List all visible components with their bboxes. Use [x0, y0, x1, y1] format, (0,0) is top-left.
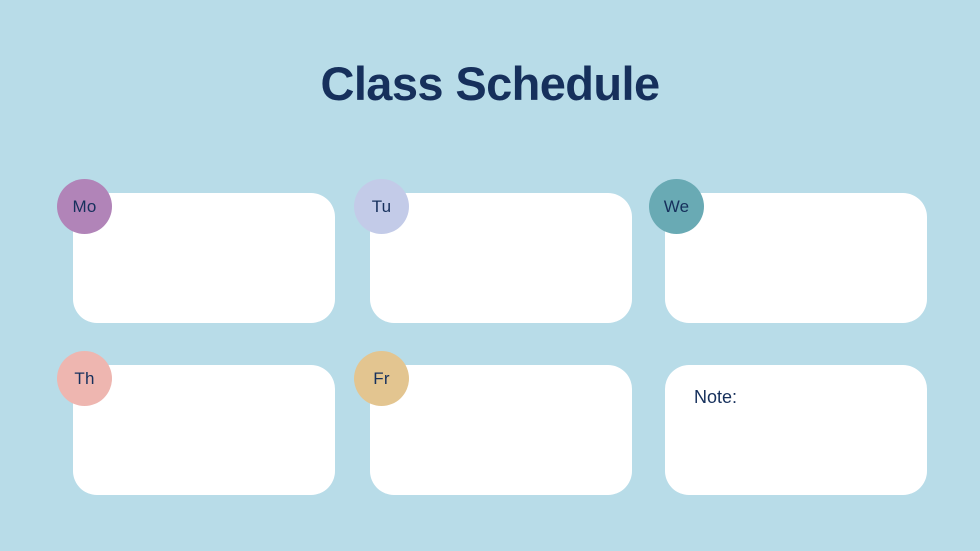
- day-card-content-thursday[interactable]: [73, 365, 335, 495]
- note-card-content[interactable]: [665, 365, 927, 495]
- day-card-friday[interactable]: [370, 365, 632, 495]
- schedule-slot-friday: Fr: [370, 365, 632, 495]
- day-badge-friday[interactable]: Fr: [354, 351, 409, 406]
- day-badge-wednesday[interactable]: We: [649, 179, 704, 234]
- schedule-grid: Mo Tu We Th: [73, 193, 925, 495]
- page-title: Class Schedule: [0, 58, 980, 110]
- note-label: Note:: [694, 387, 737, 409]
- day-card-content-monday[interactable]: [73, 193, 335, 323]
- schedule-slot-note: Note:: [665, 365, 927, 495]
- day-card-content-tuesday[interactable]: [370, 193, 632, 323]
- schedule-slot-tuesday: Tu: [370, 193, 632, 323]
- schedule-slot-wednesday: We: [665, 193, 927, 323]
- day-badge-label-tuesday: Tu: [372, 198, 392, 215]
- day-card-tuesday[interactable]: [370, 193, 632, 323]
- day-badge-label-monday: Mo: [72, 198, 96, 215]
- day-badge-monday[interactable]: Mo: [57, 179, 112, 234]
- note-card[interactable]: Note:: [665, 365, 927, 495]
- day-badge-label-thursday: Th: [74, 370, 94, 387]
- day-badge-thursday[interactable]: Th: [57, 351, 112, 406]
- day-badge-label-friday: Fr: [373, 370, 389, 387]
- day-card-thursday[interactable]: [73, 365, 335, 495]
- day-badge-tuesday[interactable]: Tu: [354, 179, 409, 234]
- day-card-content-wednesday[interactable]: [665, 193, 927, 323]
- schedule-slot-monday: Mo: [73, 193, 335, 323]
- slide-canvas: Class Schedule Mo Tu We: [0, 0, 980, 551]
- day-card-wednesday[interactable]: [665, 193, 927, 323]
- day-card-content-friday[interactable]: [370, 365, 632, 495]
- schedule-slot-thursday: Th: [73, 365, 335, 495]
- day-badge-label-wednesday: We: [664, 198, 690, 215]
- day-card-monday[interactable]: [73, 193, 335, 323]
